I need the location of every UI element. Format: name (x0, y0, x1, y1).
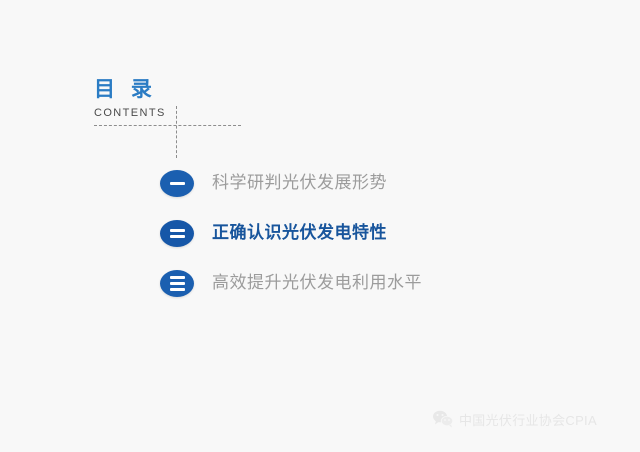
wechat-icon (432, 409, 454, 429)
numeral-bar (170, 229, 185, 232)
numeral-badge-one (160, 170, 194, 197)
numeral-bar (170, 288, 185, 291)
numeral-bar (170, 276, 185, 279)
numeral-bar (170, 282, 185, 285)
vertical-divider (176, 106, 177, 158)
list-item-label: 科学研判光伏发展形势 (212, 173, 387, 193)
horizontal-divider (94, 125, 241, 126)
watermark: 中国光伏行业协会CPIA (432, 409, 597, 429)
list-item[interactable]: 科学研判光伏发展形势 (160, 158, 580, 208)
list-item-label: 正确认识光伏发电特性 (212, 223, 387, 243)
numeral-badge-three (160, 270, 194, 297)
slide-header: 目 录 CONTENTS (94, 78, 294, 120)
page-title: 目 录 (94, 78, 294, 102)
numeral-bar (170, 235, 185, 238)
list-item-label: 高效提升光伏发电利用水平 (212, 273, 422, 293)
presentation-slide: 目 录 CONTENTS 科学研判光伏发展形势 正确认识光伏发电特性 高效提升光 (0, 0, 640, 452)
numeral-bar (170, 182, 185, 185)
contents-list: 科学研判光伏发展形势 正确认识光伏发电特性 高效提升光伏发电利用水平 (160, 158, 580, 308)
page-subtitle: CONTENTS (94, 106, 294, 120)
numeral-badge-two (160, 220, 194, 247)
list-item[interactable]: 正确认识光伏发电特性 (160, 208, 580, 258)
watermark-label: 中国光伏行业协会CPIA (459, 410, 597, 429)
list-item[interactable]: 高效提升光伏发电利用水平 (160, 258, 580, 308)
